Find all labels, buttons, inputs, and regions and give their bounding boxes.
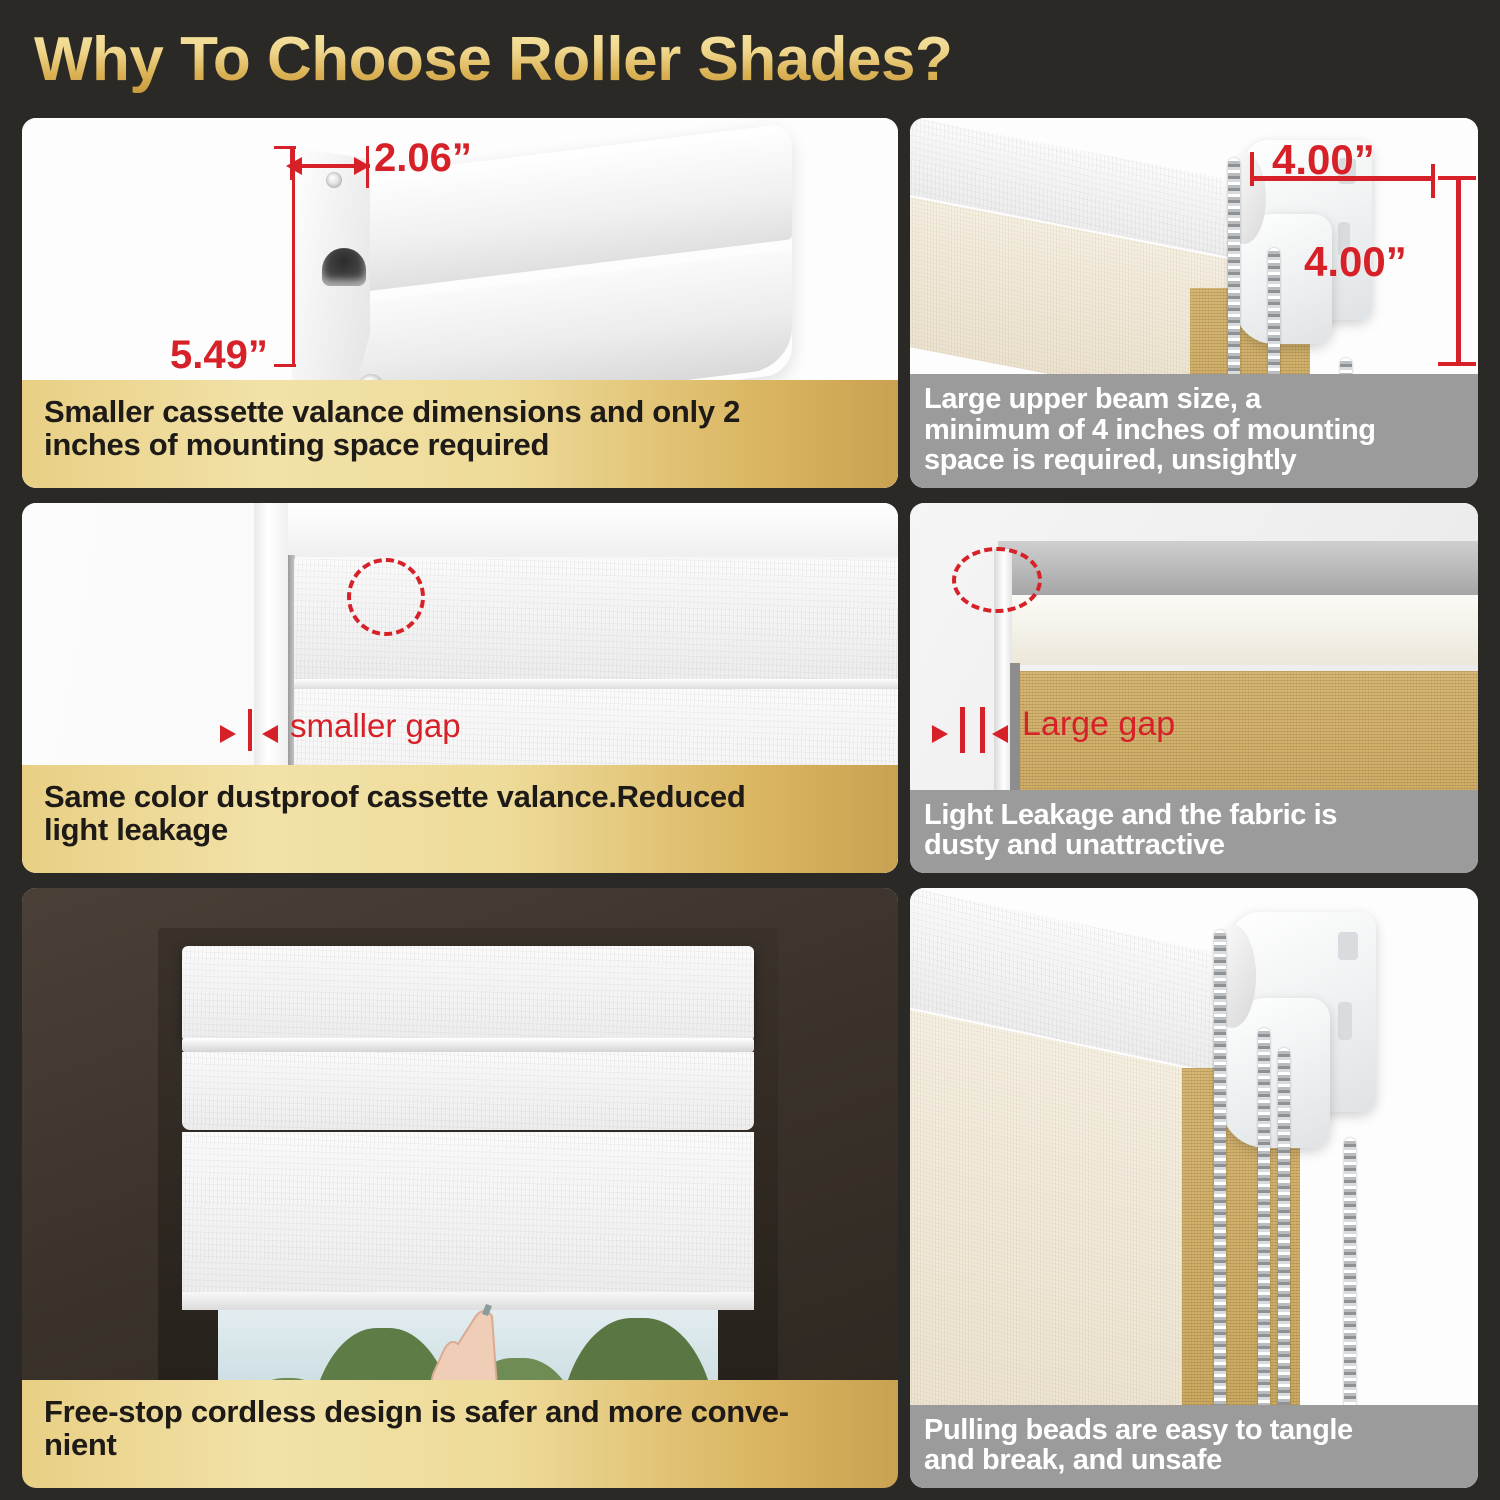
panel-good-dustproof-valance: smaller gap Same color dustproof cassett… <box>22 503 898 873</box>
bracket-slot <box>322 248 366 286</box>
window-frame-top <box>288 503 898 557</box>
panel-bad-upper-beam-size: 4.00” 4.00” Large upper beam size, a min… <box>910 118 1478 488</box>
highlight-circle-icon <box>952 547 1042 613</box>
caption-bad-pulling-beads: Pulling beads are easy to tangle and bre… <box>910 1405 1478 1488</box>
panel-bad-pulling-beads: Pulling beads are easy to tangle and bre… <box>910 888 1478 1488</box>
shade-cassette-head <box>182 946 754 1042</box>
shade-upper-panel <box>182 1052 754 1130</box>
dimension-label-width: 2.06” <box>374 136 472 181</box>
bead-chain-left <box>1214 930 1226 1470</box>
comparison-grid: 2.06” 5.49” Smaller cassette valance dim… <box>0 118 1500 1500</box>
dimension-label-beam-height: 4.00” <box>1304 238 1407 286</box>
gap-label-large: Large gap <box>1022 705 1175 744</box>
caption-good-cassette-dimensions: Smaller cassette valance dimensions and … <box>22 380 898 488</box>
shade-fabric <box>182 1132 754 1298</box>
shade-head-lip <box>182 1038 754 1052</box>
pulling-beads-photo <box>910 888 1478 1488</box>
dimension-label-beam-width: 4.00” <box>1272 136 1375 184</box>
caption-good-dustproof-valance: Same color dustproof cassette valance.Re… <box>22 765 898 873</box>
caption-bad-upper-beam-size: Large upper beam size, a minimum of 4 in… <box>910 374 1478 488</box>
dimension-label-height: 5.49” <box>170 333 268 378</box>
panel-bad-light-leakage: Large gap Light Leakage and the fabric i… <box>910 503 1478 873</box>
shade-fabric-white <box>1006 595 1478 665</box>
gap-label-smaller: smaller gap <box>290 707 461 745</box>
caption-good-cordless-design: Free-stop cordless design is safer and m… <box>22 1380 898 1488</box>
bead-chain-mid <box>1258 1028 1270 1468</box>
bracket-screw-top <box>326 172 342 188</box>
caption-bad-light-leakage: Light Leakage and the fabric is dusty an… <box>910 790 1478 873</box>
highlight-circle-icon <box>347 558 425 636</box>
panel-good-cordless-design: Free-stop cordless design is safer and m… <box>22 888 898 1488</box>
page-title: Why To Choose Roller Shades? <box>34 24 952 95</box>
panel-good-cassette-dimensions: 2.06” 5.49” Smaller cassette valance dim… <box>22 118 898 488</box>
header: Why To Choose Roller Shades? <box>0 0 1500 118</box>
